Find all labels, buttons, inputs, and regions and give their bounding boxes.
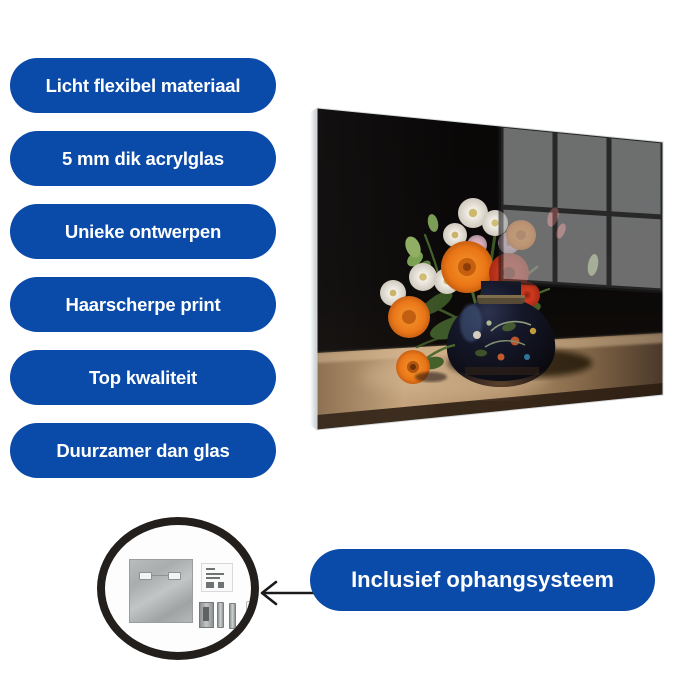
screw-icon-2	[229, 603, 236, 629]
hanging-system-circle	[97, 517, 259, 660]
mounting-plate-keyhole-left	[139, 572, 152, 580]
mounting-plate-keyhole-right	[168, 572, 181, 580]
artwork-scene	[305, 95, 675, 445]
fastener-set	[199, 601, 259, 627]
artwork-reflection-sheen	[501, 125, 663, 291]
feature-badge-haarscherpe-print[interactable]: Haarscherpe print	[10, 277, 276, 332]
screw-icon-1	[217, 602, 224, 628]
feature-badge-label: Duurzamer dan glas	[56, 440, 229, 462]
acrylic-edge-thickness	[310, 108, 317, 430]
mounting-plate-icon	[129, 559, 193, 623]
feature-badge-label: Haarscherpe print	[66, 294, 221, 316]
hanging-system-contents	[105, 525, 251, 652]
feature-badge-top-kwaliteit[interactable]: Top kwaliteit	[10, 350, 276, 405]
feature-badge-label: Licht flexibel materiaal	[46, 75, 241, 97]
instruction-card-icon	[201, 563, 233, 592]
callout-badge-inclusief-ophangsysteem[interactable]: Inclusief ophangsysteem	[310, 549, 655, 611]
infographic-canvas: Licht flexibel materiaal 5 mm dik acrylg…	[0, 0, 700, 700]
feature-badge-label: Top kwaliteit	[89, 367, 197, 389]
callout-badge-label: Inclusief ophangsysteem	[351, 567, 614, 593]
spacer-pad-icon-2	[246, 615, 259, 627]
feature-badge-unieke-ontwerpen[interactable]: Unieke ontwerpen	[10, 204, 276, 259]
feature-badge-duurzamer-dan-glas[interactable]: Duurzamer dan glas	[10, 423, 276, 478]
acrylic-panel-product-image	[305, 95, 675, 445]
wall-anchor-icon	[199, 602, 214, 628]
feature-badge-licht-flexibel-materiaal[interactable]: Licht flexibel materiaal	[10, 58, 276, 113]
feature-badge-label: Unieke ontwerpen	[65, 221, 221, 243]
feature-badge-5-mm-dik-acrylglas[interactable]: 5 mm dik acrylglas	[10, 131, 276, 186]
acrylic-panel-illustration	[305, 95, 675, 445]
feature-badge-label: 5 mm dik acrylglas	[62, 148, 224, 170]
